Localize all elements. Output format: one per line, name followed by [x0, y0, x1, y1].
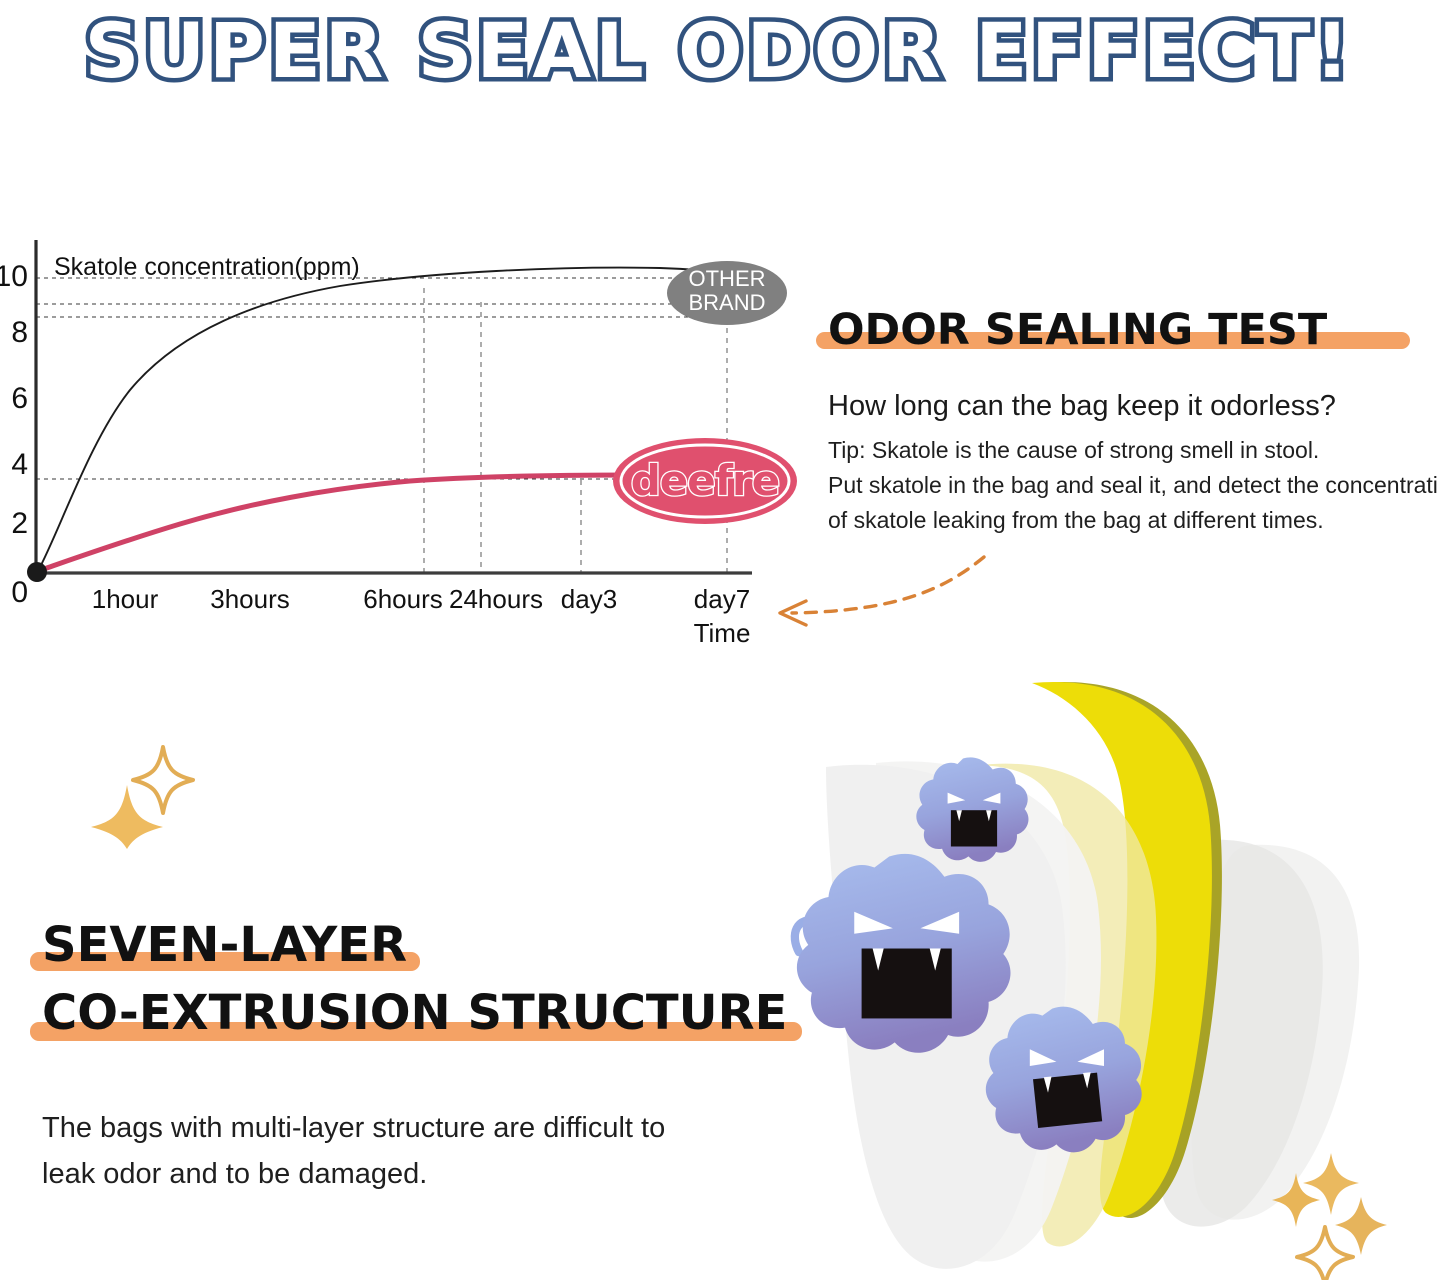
arrow-curve-icon [792, 557, 984, 613]
svg-text:Time: Time [694, 618, 751, 648]
svg-text:OTHER: OTHER [689, 266, 766, 291]
chart-y-axis-title: Skatole concentration(ppm) [54, 253, 360, 281]
odor-sealing-panel: ODOR SEALING TEST How long can the bag k… [828, 305, 1428, 538]
svg-text:1hour: 1hour [92, 584, 159, 614]
chart-y-ticklabels: 10 8 6 4 2 0 [0, 260, 28, 609]
odor-tip-line-3: of skatole leaking from the bag at diffe… [828, 503, 1428, 538]
chart-vgridlines [424, 278, 727, 573]
seven-layer-panel: SEVEN-LAYER CO-EXTRUSION STRUCTURE The b… [42, 915, 862, 1197]
odor-chart: 10 8 6 4 2 0 Skatole concentration(ppm) … [0, 230, 800, 660]
sparkle-outline-icon [133, 747, 193, 813]
sparkle-filled-icon [91, 785, 163, 849]
pointer-arrow [762, 545, 1002, 655]
svg-text:day3: day3 [561, 584, 617, 614]
chart-x-ticklabels: 1hour 3hours 6hours 24hours day3 day7 Ti… [92, 584, 751, 648]
svg-text:0: 0 [11, 576, 28, 609]
chart-origin-dot [27, 562, 47, 582]
sparkle-filled-mid-icon [1335, 1197, 1387, 1255]
odor-tip-line-1: Tip: Skatole is the cause of strong smel… [828, 433, 1428, 468]
svg-text:2: 2 [11, 507, 28, 540]
sparkle-outline-bottom-icon [1297, 1227, 1353, 1280]
svg-text:deefre: deefre [631, 456, 780, 505]
germ-mouth-icon [1033, 1073, 1102, 1128]
seven-layer-body-line1: The bags with multi-layer structure are … [42, 1105, 862, 1151]
seven-layer-heading-line1: SEVEN-LAYER [42, 915, 407, 975]
chart-hgridlines [36, 278, 740, 479]
odor-question: How long can the bag keep it odorless? [828, 387, 1428, 425]
svg-text:6: 6 [11, 382, 28, 415]
germ-monster-large-left [795, 854, 1011, 1053]
sparkle-filled-top-icon [1303, 1153, 1359, 1215]
deefre-badge: deefre [613, 438, 797, 524]
svg-text:4: 4 [11, 448, 28, 481]
svg-text:3hours: 3hours [210, 584, 290, 614]
svg-text:8: 8 [11, 316, 28, 349]
svg-text:6hours: 6hours [363, 584, 443, 614]
seven-layer-body: The bags with multi-layer structure are … [42, 1105, 862, 1197]
svg-text:BRAND: BRAND [688, 290, 765, 315]
series-other-brand-line [38, 268, 740, 571]
other-brand-badge: OTHER BRAND [667, 261, 787, 325]
germ-mouth-icon [862, 949, 952, 1019]
seven-layer-heading-line2: CO-EXTRUSION STRUCTURE [42, 983, 787, 1043]
odor-sealing-title: ODOR SEALING TEST [828, 305, 1327, 355]
svg-text:24hours: 24hours [449, 584, 543, 614]
svg-text:10: 10 [0, 260, 28, 293]
sparkle-cluster-right [1285, 1145, 1435, 1280]
seven-layer-body-line2: leak odor and to be damaged. [42, 1151, 862, 1197]
sparkle-cluster-left [85, 735, 215, 855]
odor-tip-line-2: Put skatole in the bag and seal it, and … [828, 468, 1428, 503]
svg-text:day7: day7 [694, 584, 750, 614]
page-title: SUPER SEAL ODOR EFFECT! [0, 4, 1438, 98]
